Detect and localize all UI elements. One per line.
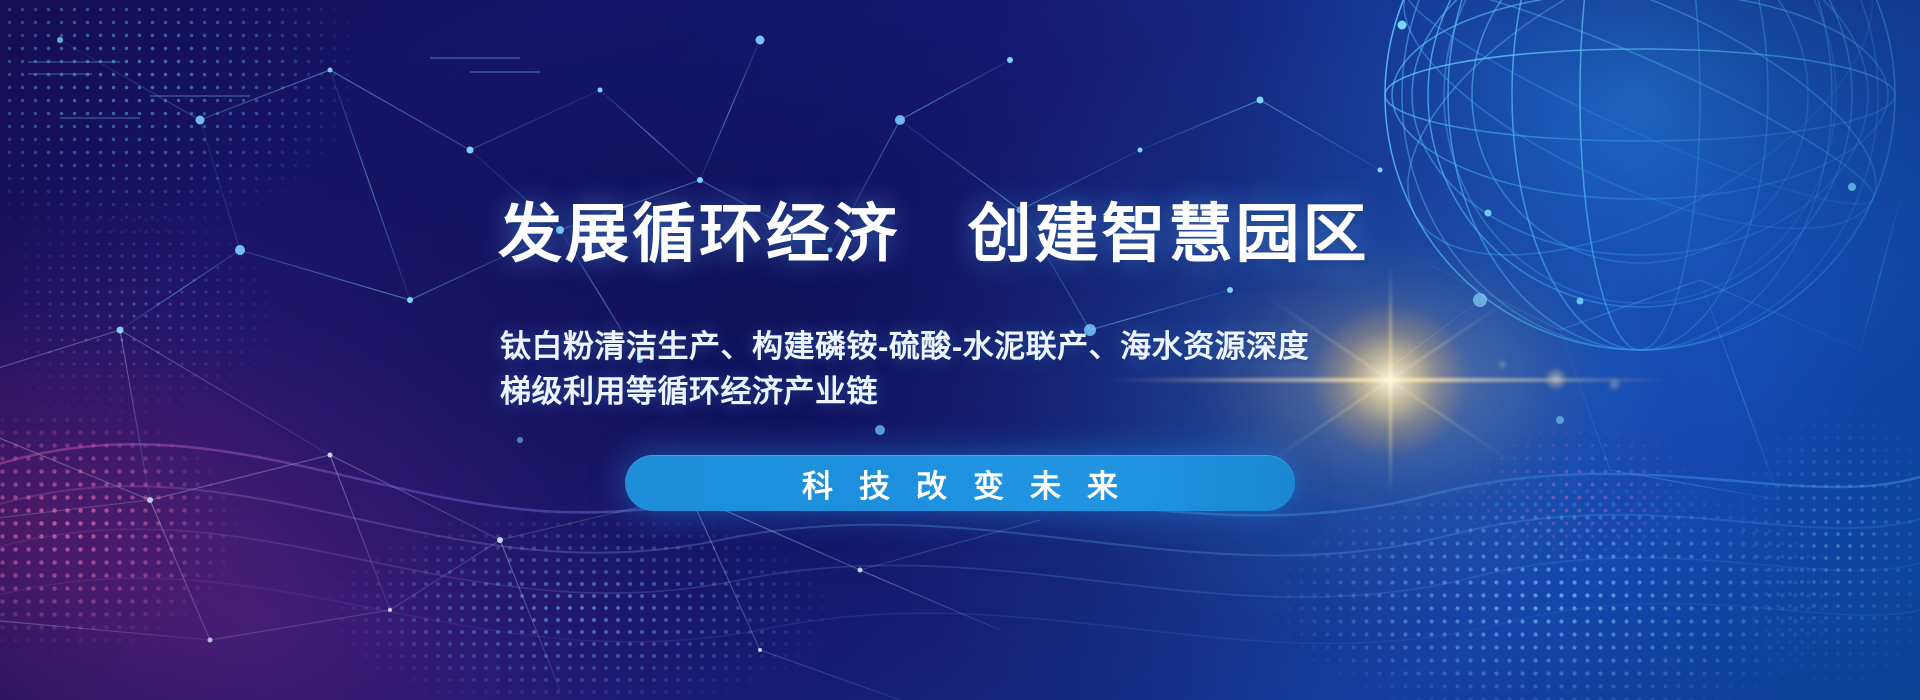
cta-button-label: 科技改变未来	[776, 461, 1144, 506]
banner-content: 发展循环经济 创建智慧园区 钛白粉清洁生产、构建磷铵-硫酸-水泥联产、海水资源深…	[0, 0, 1920, 700]
subtitle: 钛白粉清洁生产、构建磷铵-硫酸-水泥联产、海水资源深度 梯级利用等循环经济产业链	[500, 325, 1460, 415]
headline-part-2: 创建智慧园区	[968, 198, 1370, 270]
hero-banner: 发展循环经济 创建智慧园区 钛白粉清洁生产、构建磷铵-硫酸-水泥联产、海水资源深…	[0, 0, 1920, 700]
subtitle-line-2: 梯级利用等循环经济产业链	[500, 370, 1460, 415]
subtitle-line-1: 钛白粉清洁生产、构建磷铵-硫酸-水泥联产、海水资源深度	[500, 325, 1460, 370]
headline-part-1: 发展循环经济	[498, 198, 900, 270]
cta-button[interactable]: 科技改变未来	[625, 455, 1295, 511]
page-title: 发展循环经济 创建智慧园区	[498, 202, 1370, 266]
